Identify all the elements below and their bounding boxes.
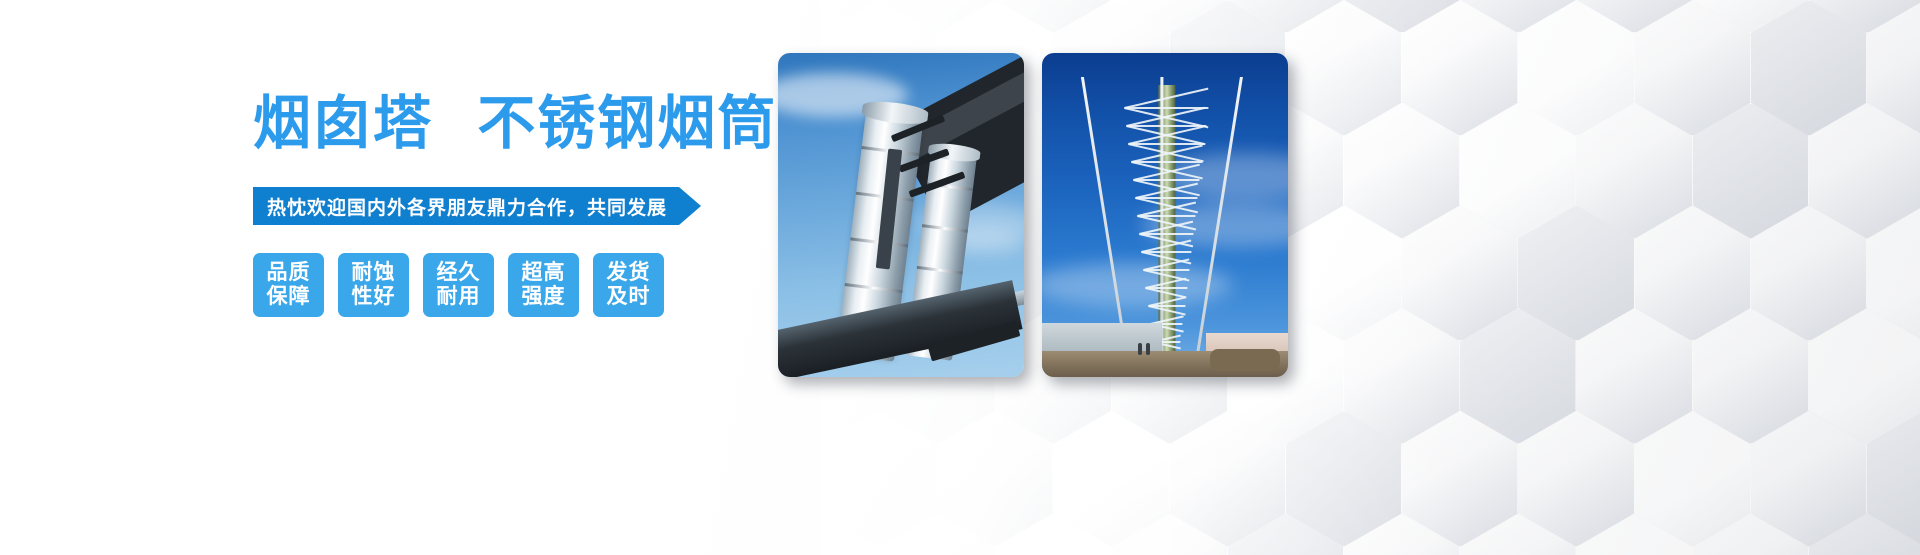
- promo-banner: 烟囱塔 不锈钢烟筒 热忱欢迎国内外各界朋友鼎力合作，共同发展 品质 保障 耐蚀 …: [0, 0, 1920, 555]
- hexagon-tile: [1111, 0, 1229, 33]
- hexagon-tile: [1866, 411, 1920, 547]
- banner-text-column: 烟囱塔 不锈钢烟筒 热忱欢迎国内外各界朋友鼎力合作，共同发展 品质 保障 耐蚀 …: [0, 0, 780, 555]
- badge-line-2: 耐用: [437, 285, 481, 309]
- hexagon-tile: [1634, 411, 1752, 547]
- feature-badge[interactable]: 品质 保障: [253, 253, 324, 317]
- hexagon-tile: [1808, 103, 1920, 239]
- hexagon-tile: [1575, 513, 1693, 555]
- hexagon-tile: [1343, 308, 1461, 444]
- hexagon-tile: [1692, 0, 1810, 33]
- tower-crossbar: [1131, 161, 1202, 163]
- hexagon-tile: [1750, 205, 1868, 341]
- hexagon-tile: [820, 0, 880, 33]
- tower-crossbar: [1144, 269, 1190, 271]
- welcome-ribbon: 热忱欢迎国内外各界朋友鼎力合作，共同发展: [253, 187, 701, 225]
- hexagon-tile: [1692, 513, 1810, 555]
- hexagon-tile: [1808, 0, 1920, 33]
- hexagon-tile: [1401, 205, 1519, 341]
- hexagon-tile: [1692, 103, 1810, 239]
- hexagon-tile: [1052, 411, 1170, 547]
- ribbon-container: 热忱欢迎国内外各界朋友鼎力合作，共同发展: [253, 187, 701, 225]
- hexagon-tile: [1111, 513, 1229, 555]
- badge-line-1: 耐蚀: [352, 261, 396, 285]
- hexagon-tile: [1459, 513, 1577, 555]
- hexagon-tile: [878, 0, 996, 33]
- tower-crossbar: [1125, 107, 1209, 109]
- hexagon-tile: [1285, 0, 1403, 136]
- badge-line-2: 保障: [267, 285, 311, 309]
- hexagon-tile: [1808, 308, 1920, 444]
- tower-crossbar: [1133, 179, 1200, 181]
- hexagon-tile: [1459, 308, 1577, 444]
- hexagon-tile: [1575, 308, 1693, 444]
- hexagon-tile: [1285, 205, 1403, 341]
- hexagon-tile: [1866, 0, 1920, 136]
- hexagon-tile: [1634, 0, 1752, 136]
- product-photo-steel-tower[interactable]: [1042, 53, 1288, 377]
- tower-crossbar: [1129, 143, 1204, 145]
- badge-line-1: 超高: [522, 261, 566, 285]
- hexagon-tile: [1343, 0, 1461, 33]
- hexagon-tile: [1808, 513, 1920, 555]
- hexagon-tile: [1169, 411, 1287, 547]
- tower-crossbar: [1135, 197, 1198, 199]
- person-figure: [1146, 343, 1150, 355]
- hexagon-tile: [1634, 205, 1752, 341]
- hexagon-tile: [820, 513, 880, 555]
- banner-title: 烟囱塔 不锈钢烟筒: [253, 92, 777, 156]
- hexagon-tile: [820, 411, 938, 547]
- hexagon-tile: [1575, 103, 1693, 239]
- tower-crossbar: [1139, 233, 1193, 235]
- hexagon-tile: [1227, 513, 1345, 555]
- hexagon-tile: [820, 411, 822, 547]
- product-photo-chimney-stacks[interactable]: [778, 53, 1024, 377]
- feature-badge[interactable]: 发货 及时: [593, 253, 664, 317]
- hexagon-tile: [1517, 411, 1635, 547]
- hexagon-tile: [878, 513, 996, 555]
- hexagon-tile: [1343, 513, 1461, 555]
- tower-crossbar: [1148, 305, 1185, 307]
- hexagon-tile: [994, 0, 1112, 33]
- tower-crossbar: [1146, 287, 1187, 289]
- hexagon-tile: [1459, 103, 1577, 239]
- badge-line-2: 强度: [522, 285, 566, 309]
- hexagon-tile: [1517, 205, 1635, 341]
- badge-line-2: 及时: [607, 285, 651, 309]
- dirt-mound: [1210, 349, 1280, 371]
- hexagon-tile: [1401, 0, 1519, 136]
- feature-badge-list: 品质 保障 耐蚀 性好 经久 耐用 超高 强度 发货 及时: [253, 253, 664, 317]
- hexagon-tile: [1692, 308, 1810, 444]
- feature-badge[interactable]: 经久 耐用: [423, 253, 494, 317]
- hexagon-tile: [1750, 411, 1868, 547]
- hexagon-tile: [936, 411, 1054, 547]
- hexagon-tile: [1401, 411, 1519, 547]
- hexagon-tile: [1750, 0, 1868, 136]
- feature-badge[interactable]: 超高 强度: [508, 253, 579, 317]
- tower-crossbar: [1137, 215, 1195, 217]
- hexagon-tile: [1285, 411, 1403, 547]
- hexagon-tile: [1227, 0, 1345, 33]
- tower-crossbar: [1142, 251, 1192, 253]
- badge-line-1: 经久: [437, 261, 481, 285]
- hexagon-tile: [1459, 0, 1577, 33]
- hexagon-tile: [1517, 0, 1635, 136]
- hexagon-tile: [1866, 205, 1920, 341]
- badge-line-1: 发货: [607, 261, 651, 285]
- badge-line-1: 品质: [267, 261, 311, 285]
- badge-line-2: 性好: [352, 285, 396, 309]
- person-figure: [1138, 343, 1142, 355]
- hexagon-tile: [994, 513, 1112, 555]
- feature-badge[interactable]: 耐蚀 性好: [338, 253, 409, 317]
- hexagon-tile: [1343, 103, 1461, 239]
- hexagon-tile: [1575, 0, 1693, 33]
